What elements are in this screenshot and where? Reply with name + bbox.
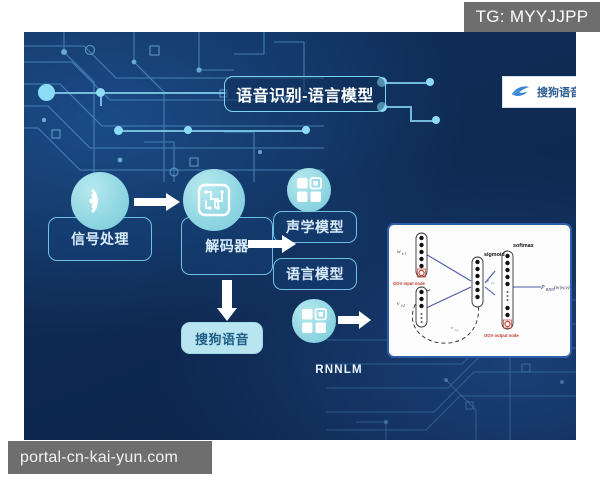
four-square-grid-icon [301, 308, 327, 334]
signal-wave-icon [83, 184, 117, 218]
arrow-decoder-to-models [248, 234, 298, 254]
title-trace-left-2 [100, 92, 226, 94]
sogou-brand-logo: 搜狗语音 [502, 76, 576, 108]
title-node-left [96, 88, 105, 97]
rnnlm-caption: RNNLM [294, 364, 384, 376]
arrow-signal-to-decoder [134, 192, 182, 212]
svg-text:t-2: t-2 [401, 304, 405, 308]
label-oov-input: OOV input node [393, 281, 426, 286]
circuit-chip-icon [197, 183, 231, 217]
input-layer-2 [416, 287, 427, 327]
flow-box-sogou-voice-output[interactable]: 搜狗语音 [181, 322, 263, 354]
decoder-icon-circle [183, 169, 245, 231]
arrow-lm-to-nn-panel [338, 311, 372, 329]
hidden-layer-sigmoid [472, 257, 483, 307]
language-model-icon-circle [292, 299, 336, 343]
tg-watermark: TG: MYYJJPP [464, 2, 600, 32]
label-softmax: softmax [513, 243, 534, 249]
label-input-prev2: v [397, 301, 400, 307]
flow-box-language-model[interactable]: 语言模型 [273, 258, 357, 290]
flow-label-decoder: 解码器 [205, 236, 249, 256]
rnnlm-network-diagram: w t-1 v t-2 sigmoid softmax v t-1 v t-1 … [387, 223, 572, 358]
label-recurrent: v [451, 325, 454, 330]
title-trace-right-2v [410, 106, 412, 120]
sogou-swoosh-icon [510, 85, 532, 99]
page-title: 语音识别-语言模型 [224, 76, 386, 112]
title-node-right-low-end [432, 116, 440, 124]
svg-text:t-1: t-1 [491, 281, 495, 285]
flow-label-sogou-voice-output: 搜狗语音 [195, 329, 249, 348]
title-trace-right [382, 82, 430, 84]
acoustic-model-icon-circle [287, 168, 331, 212]
sogou-brand-label: 搜狗语音 [537, 84, 576, 100]
signal-processing-icon-circle [71, 172, 129, 230]
title-trace-bottom [118, 130, 306, 132]
title-node-bottom-a [114, 126, 123, 135]
output-layer-softmax [502, 251, 513, 329]
label-formula: P [540, 285, 545, 291]
label-oov-output: OOV output node [484, 333, 519, 338]
title-node-bottom-b [184, 126, 192, 134]
label-sigmoid: sigmoid [484, 252, 505, 258]
site-watermark: portal-cn-kai-yun.com [8, 441, 212, 474]
title-node-right-end [426, 78, 434, 86]
svg-text:t-1: t-1 [402, 252, 406, 256]
label-hidden-out: v [487, 278, 490, 283]
four-square-grid-icon [296, 177, 322, 203]
title-node-left-big [38, 84, 55, 101]
flow-label-language-model: 语言模型 [286, 264, 344, 284]
slide-canvas: 语音识别-语言模型 搜狗语音 信号处理 [24, 32, 576, 440]
input-layer-1 [416, 233, 427, 277]
rnnlm-network-svg: w t-1 v t-2 sigmoid softmax v t-1 v t-1 … [389, 225, 570, 356]
flow-label-signal-processing: 信号处理 [71, 229, 129, 249]
arrow-decoder-to-output [216, 280, 238, 322]
title-node-bottom-c [302, 126, 310, 134]
svg-text:t-1: t-1 [455, 328, 459, 332]
label-input-prev1: w [397, 249, 401, 255]
svg-text:(w|w,v): (w|w,v) [554, 284, 570, 291]
